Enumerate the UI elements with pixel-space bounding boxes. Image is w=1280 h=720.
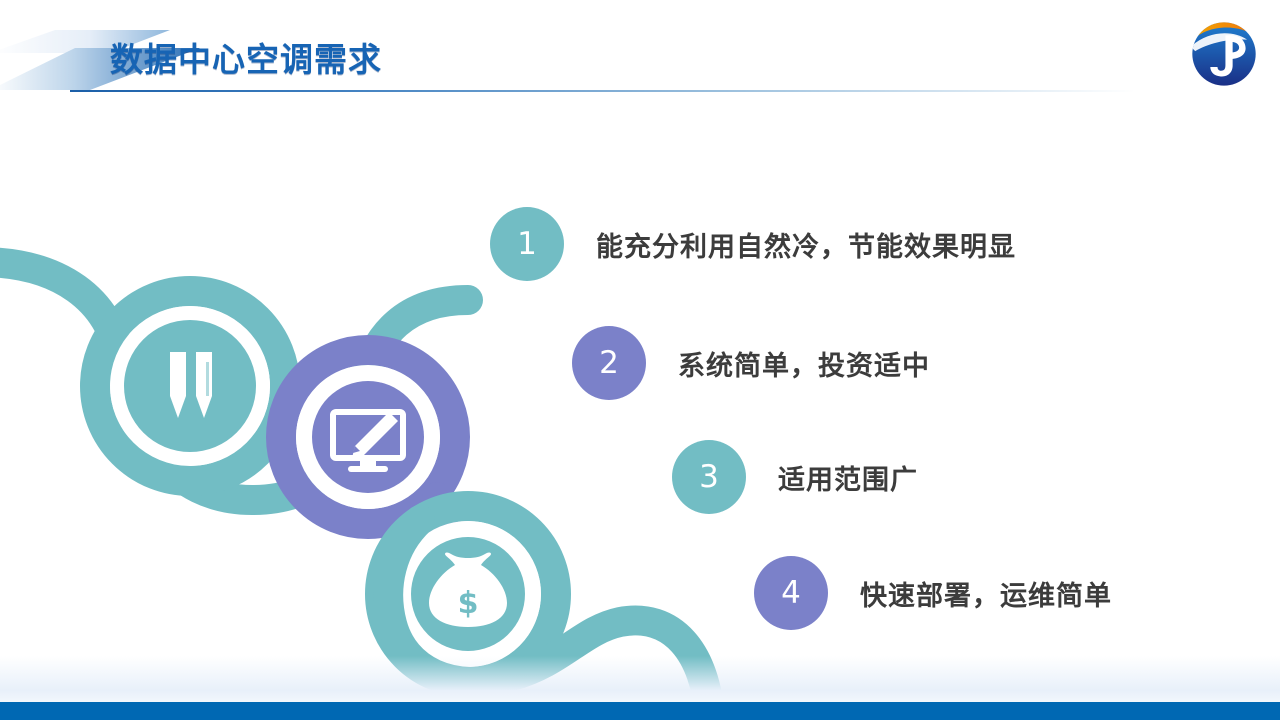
bullet-row-1: 1 能充分利用自然冷，节能效果明显 <box>490 207 1016 281</box>
bullet-row-4: 4 快速部署，运维简单 <box>754 556 1112 630</box>
slide-header: 数据中心空调需求 <box>0 0 1280 100</box>
bullet-number-2: 2 <box>572 326 646 400</box>
bullet-row-2: 2 系统简单，投资适中 <box>572 326 930 400</box>
bullet-number-4: 4 <box>754 556 828 630</box>
icon-disc-pens <box>124 320 256 452</box>
bottom-bar <box>0 702 1280 720</box>
slide-canvas: $ 数据中心空调需求 <box>0 0 1280 720</box>
bullet-label-3: 适用范围广 <box>778 458 918 497</box>
svg-text:$: $ <box>458 586 479 621</box>
bottom-gradient <box>0 656 1280 702</box>
company-logo <box>1188 18 1260 90</box>
header-rule <box>70 90 1135 92</box>
page-title: 数据中心空调需求 <box>110 33 382 81</box>
bullet-label-4: 快速部署，运维简单 <box>860 574 1112 613</box>
bullet-label-2: 系统简单，投资适中 <box>678 344 930 383</box>
bullet-label-1: 能充分利用自然冷，节能效果明显 <box>596 225 1016 264</box>
bullet-row-3: 3 适用范围广 <box>672 440 918 514</box>
bullet-number-3: 3 <box>672 440 746 514</box>
bullet-number-1: 1 <box>490 207 564 281</box>
